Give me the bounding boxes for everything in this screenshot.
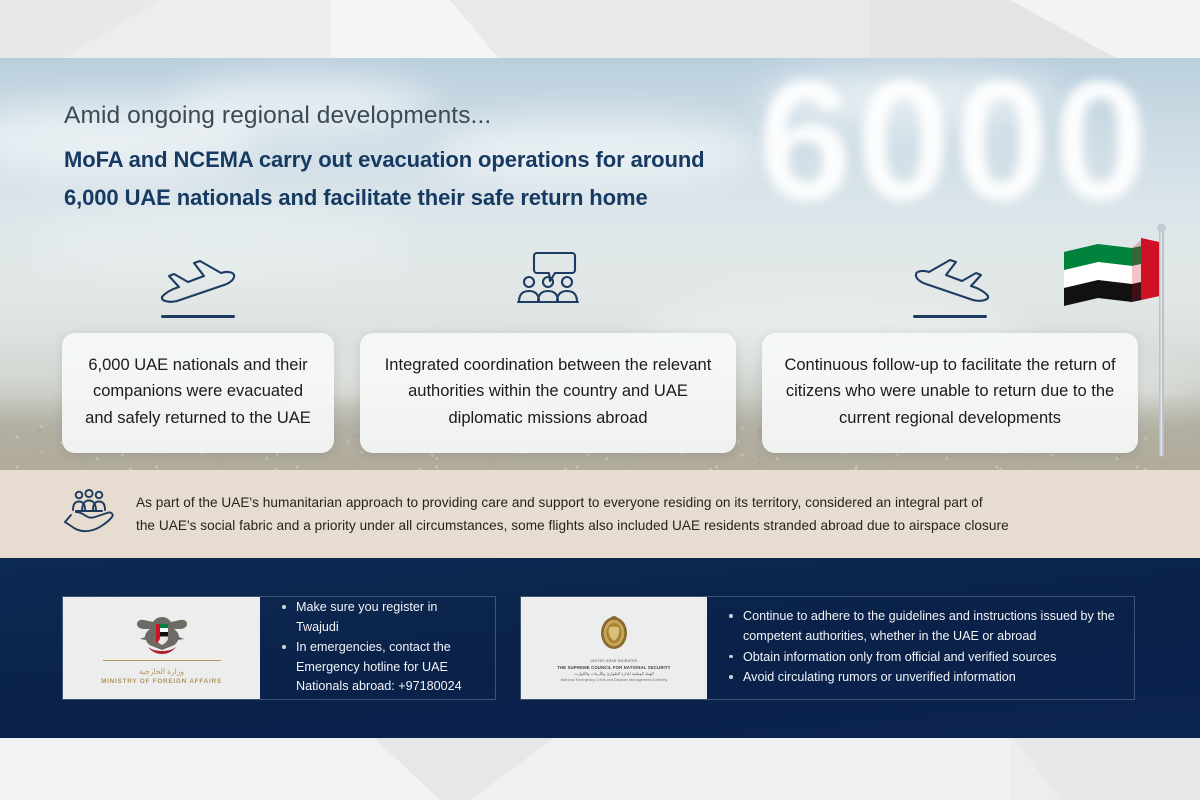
- note-line-2: the UAE's social fabric and a priority u…: [136, 514, 1009, 537]
- humanitarian-note-text: As part of the UAE's humanitarian approa…: [136, 491, 1009, 538]
- org-block-ncema: UNITED ARAB EMIRATES THE SUPREME COUNCIL…: [520, 596, 1135, 700]
- mofa-name-arabic: وزارة الخارجية: [139, 667, 184, 676]
- eyebrow-text: Amid ongoing regional developments...: [64, 102, 705, 130]
- feature-card-2: Integrated coordination between the rele…: [360, 250, 736, 453]
- background-polygons-top: [0, 0, 1200, 60]
- mofa-bullets: Make sure you register in Twajudi In eme…: [260, 597, 495, 699]
- list-item: Make sure you register in Twajudi: [280, 598, 477, 637]
- airplane-landing-icon: [905, 250, 995, 306]
- ncema-bullets: Continue to adhere to the guidelines and…: [707, 597, 1134, 699]
- feature-card-2-text: Integrated coordination between the rele…: [360, 333, 736, 453]
- footer-section: وزارة الخارجية MINISTRY OF FOREIGN AFFAI…: [0, 558, 1200, 738]
- watermark-number: 6000: [758, 58, 1152, 231]
- ncema-line-3-en: National Emergency Crisis and Disaster M…: [561, 678, 668, 682]
- mofa-name-english: MINISTRY OF FOREIGN AFFAIRS: [101, 678, 222, 685]
- ncema-gold-seal-icon: [597, 614, 631, 654]
- feature-card-1-text: 6,000 UAE nationals and their companions…: [62, 333, 334, 453]
- headline-line-2: 6,000 UAE nationals and facilitate their…: [64, 179, 705, 217]
- ncema-logo: UNITED ARAB EMIRATES THE SUPREME COUNCIL…: [521, 597, 707, 699]
- feature-card-3: Continuous follow-up to facilitate the r…: [762, 250, 1138, 453]
- humanitarian-note-strip: As part of the UAE's humanitarian approa…: [0, 470, 1200, 558]
- mofa-logo: وزارة الخارجية MINISTRY OF FOREIGN AFFAI…: [63, 597, 260, 699]
- uae-falcon-emblem-icon: [134, 611, 190, 657]
- feature-card-3-text: Continuous follow-up to facilitate the r…: [762, 333, 1138, 453]
- feature-cards: 6,000 UAE nationals and their companions…: [0, 250, 1200, 453]
- icon-underline: [913, 315, 987, 318]
- ncema-line-2-en: THE SUPREME COUNCIL FOR NATIONAL SECURIT…: [557, 665, 670, 670]
- list-item: Continue to adhere to the guidelines and…: [727, 607, 1116, 646]
- ncema-line-3-ar: الهيئة الوطنية لإدارة الطوارئ والأزمات و…: [574, 671, 654, 676]
- headline-line-1: MoFA and NCEMA carry out evacuation oper…: [64, 141, 705, 179]
- icon-underline: [161, 315, 235, 318]
- headline-block: Amid ongoing regional developments... Mo…: [64, 102, 705, 217]
- list-item: Obtain information only from official an…: [727, 648, 1116, 668]
- hero-section: 6000 Amid ongoing regional developments.…: [0, 58, 1200, 470]
- infographic-frame: 6000 Amid ongoing regional developments.…: [0, 0, 1200, 800]
- background-polygons-bottom: [0, 734, 1200, 800]
- org-block-mofa: وزارة الخارجية MINISTRY OF FOREIGN AFFAI…: [62, 596, 496, 700]
- hand-holding-people-icon: [62, 487, 116, 542]
- airplane-takeoff-icon: [155, 250, 241, 306]
- people-meeting-speech-bubble-icon: [515, 250, 581, 306]
- mofa-divider: [103, 660, 221, 661]
- ncema-line-1-en: UNITED ARAB EMIRATES: [590, 659, 637, 663]
- infographic-panel: 6000 Amid ongoing regional developments.…: [0, 58, 1200, 738]
- list-item: In emergencies, contact the Emergency ho…: [280, 638, 477, 697]
- feature-card-1: 6,000 UAE nationals and their companions…: [62, 250, 334, 453]
- note-line-1: As part of the UAE's humanitarian approa…: [136, 491, 1009, 514]
- list-item: Avoid circulating rumors or unverified i…: [727, 668, 1116, 688]
